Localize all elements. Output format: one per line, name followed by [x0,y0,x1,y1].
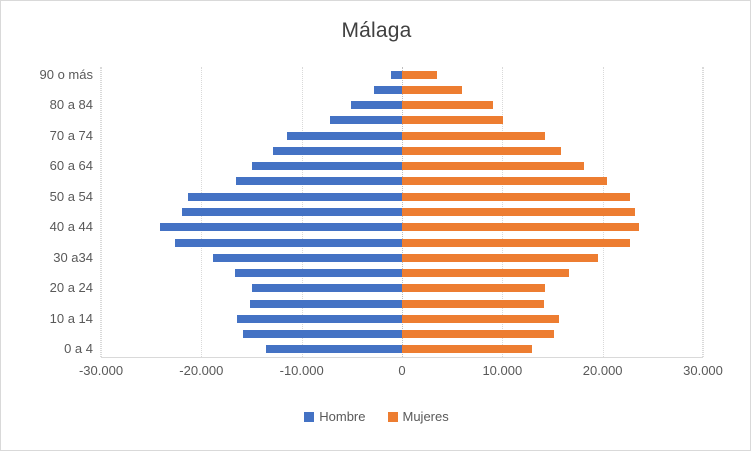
bar-female[interactable] [402,116,503,124]
bar-female[interactable] [402,71,437,79]
bar-female[interactable] [402,223,639,231]
y-axis-tick-label: 30 a34 [53,251,93,265]
y-axis-tick-label: 0 a 4 [64,342,93,356]
x-axis-tick-labels: -30.000-20.000-10.000010.00020.00030.000 [1,363,752,385]
bar-male[interactable] [250,300,402,308]
legend-swatch-icon [304,412,314,422]
bar-row [101,330,703,338]
bar-row [101,269,703,277]
bar-male[interactable] [182,208,402,216]
bar-female[interactable] [402,345,532,353]
bar-male[interactable] [273,147,402,155]
bar-row [101,300,703,308]
bar-male[interactable] [287,132,402,140]
bar-row [101,345,703,353]
bar-female[interactable] [402,239,630,247]
bar-male[interactable] [236,177,402,185]
x-axis-tick-label: -10.000 [280,363,324,378]
bar-male[interactable] [237,315,402,323]
y-axis-tick-label: 20 a 24 [50,281,93,295]
bar-male[interactable] [252,284,403,292]
y-axis-tick-label: 10 a 14 [50,312,93,326]
bar-row [101,208,703,216]
bar-male[interactable] [160,223,402,231]
bar-female[interactable] [402,86,462,94]
bar-male[interactable] [266,345,402,353]
bar-female[interactable] [402,162,584,170]
bar-row [101,116,703,124]
plot-area [101,67,703,357]
bar-male[interactable] [175,239,402,247]
bar-row [101,162,703,170]
bar-male[interactable] [213,254,402,262]
x-axis-line [101,357,703,358]
bar-female[interactable] [402,101,493,109]
bar-row [101,86,703,94]
bar-male[interactable] [391,71,402,79]
x-axis-tick-label: -20.000 [179,363,223,378]
legend-label: Hombre [319,409,365,424]
bar-female[interactable] [402,193,630,201]
gridline [703,67,704,357]
y-axis-tick-label: 90 o más [40,68,93,82]
x-axis-tick-label: 10.000 [482,363,522,378]
bar-male[interactable] [188,193,402,201]
bar-male[interactable] [330,116,402,124]
y-axis-tick-label: 60 a 64 [50,159,93,173]
bar-row [101,101,703,109]
chart-title: Málaga [1,19,752,43]
chart-container: Málaga 90 o más80 a 8470 a 7460 a 6450 a… [0,0,751,451]
bar-row [101,71,703,79]
x-axis-tick-label: -30.000 [79,363,123,378]
y-axis-tick-label: 70 a 74 [50,129,93,143]
x-axis-tick-label: 20.000 [583,363,623,378]
bar-female[interactable] [402,208,635,216]
y-axis-tick-labels: 90 o más80 a 8470 a 7460 a 6450 a 5440 a… [1,67,93,357]
bar-female[interactable] [402,177,607,185]
y-axis-tick-label: 50 a 54 [50,190,93,204]
bar-female[interactable] [402,315,559,323]
bar-row [101,315,703,323]
bar-female[interactable] [402,330,554,338]
legend-item[interactable]: Mujeres [388,409,449,424]
bar-female[interactable] [402,132,545,140]
bar-female[interactable] [402,269,569,277]
bar-male[interactable] [235,269,402,277]
bar-row [101,284,703,292]
y-axis-tick-label: 80 a 84 [50,98,93,112]
bar-row [101,177,703,185]
bar-male[interactable] [252,162,403,170]
bar-male[interactable] [351,101,402,109]
legend-item[interactable]: Hombre [304,409,365,424]
bar-row [101,239,703,247]
chart-legend: HombreMujeres [1,409,752,424]
bar-row [101,147,703,155]
bar-female[interactable] [402,284,545,292]
x-axis-tick-label: 0 [398,363,405,378]
bar-female[interactable] [402,254,598,262]
x-axis-tick-label: 30.000 [683,363,723,378]
bar-male[interactable] [243,330,402,338]
legend-label: Mujeres [403,409,449,424]
legend-swatch-icon [388,412,398,422]
bar-row [101,132,703,140]
bar-female[interactable] [402,147,561,155]
bar-female[interactable] [402,300,544,308]
bar-male[interactable] [374,86,402,94]
bar-row [101,254,703,262]
bar-row [101,223,703,231]
y-axis-tick-label: 40 a 44 [50,220,93,234]
bar-row [101,193,703,201]
